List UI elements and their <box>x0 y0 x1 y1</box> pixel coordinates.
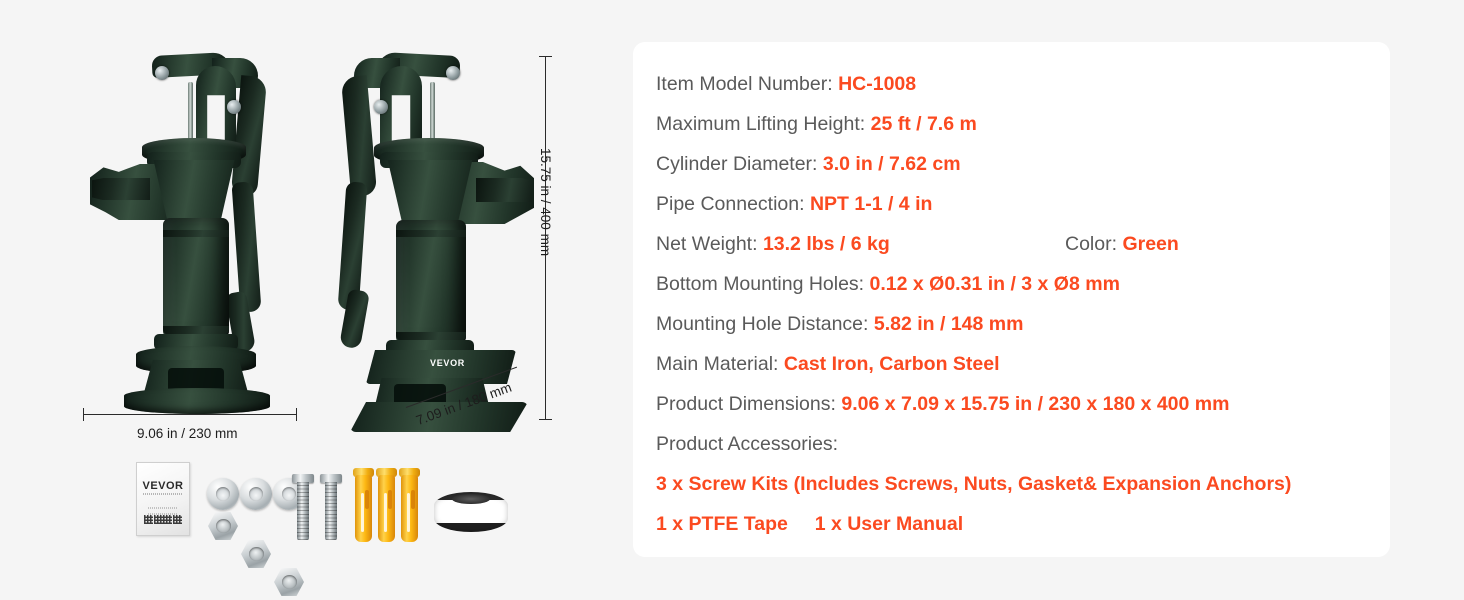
spec-label: Item Model Number: <box>656 73 833 95</box>
accessory-user-manual: 1 x User Manual <box>815 513 963 535</box>
spec-label: Product Accessories: <box>656 433 838 455</box>
handle-pivot-bolt <box>227 100 241 114</box>
specification-list: Item Model Number: HC-1008 Maximum Lifti… <box>656 64 1374 544</box>
spec-row: Item Model Number: HC-1008 <box>656 64 1374 104</box>
bolt-accessory <box>320 474 342 540</box>
spec-value: Cast Iron, Carbon Steel <box>784 353 1000 375</box>
hex-nut-accessory <box>208 512 238 540</box>
spec-label: Pipe Connection: <box>656 193 805 215</box>
handle-pivot-bolt <box>374 100 388 114</box>
width-dimension-label: 9.06 in / 230 mm <box>137 426 238 441</box>
pump-front-view <box>84 52 304 412</box>
user-manual-accessory: VEVOR <box>136 462 190 536</box>
spec-label: Net Weight: <box>656 233 758 255</box>
accessory-ptfe-tape: 1 x PTFE Tape <box>656 513 788 535</box>
pump-angled-view: VEVOR <box>318 50 543 418</box>
accessories-row: VEVOR <box>0 452 630 548</box>
spec-secondary-pair: Color: Green <box>1065 224 1179 264</box>
spec-label: Cylinder Diameter: <box>656 153 817 175</box>
handle-pivot-bolt <box>155 66 169 80</box>
manual-code-row <box>144 515 182 524</box>
hex-nut-accessory <box>241 540 271 568</box>
spec-row: Maximum Lifting Height: 25 ft / 7.6 m <box>656 104 1374 144</box>
spec-value: 9.06 x 7.09 x 15.75 in / 230 x 180 x 400… <box>841 393 1229 415</box>
ptfe-tape-accessory <box>434 492 508 532</box>
expansion-anchor-accessory <box>401 468 418 542</box>
product-illustration-panel: VEVOR 9.06 in / 230 mm 7.09 in / 180 mm … <box>0 0 630 600</box>
hex-nut-accessory <box>274 568 304 596</box>
washer-accessory <box>240 478 272 510</box>
spec-value: NPT 1-1 / 4 in <box>810 193 932 215</box>
bolt-accessory <box>292 474 314 540</box>
product-spec-page: VEVOR 9.06 in / 230 mm 7.09 in / 180 mm … <box>0 0 1464 600</box>
spec-row-accessories-heading: Product Accessories: <box>656 424 1374 464</box>
spec-label: Color: <box>1065 233 1117 255</box>
specification-card: Item Model Number: HC-1008 Maximum Lifti… <box>633 42 1390 557</box>
spec-value: 5.82 in / 148 mm <box>874 313 1024 335</box>
accessories-line-1: 3 x Screw Kits (Includes Screws, Nuts, G… <box>656 464 1374 504</box>
manual-subtitle-line <box>143 493 183 495</box>
spec-value: 0.12 x Ø0.31 in / 3 x Ø8 mm <box>870 273 1120 295</box>
expansion-anchor-accessory <box>378 468 395 542</box>
spec-value: Green <box>1122 233 1178 255</box>
spec-value: HC-1008 <box>838 73 916 95</box>
spec-value: 13.2 lbs / 6 kg <box>763 233 890 255</box>
spec-row: Product Dimensions: 9.06 x 7.09 x 15.75 … <box>656 384 1374 424</box>
spec-label: Maximum Lifting Height: <box>656 113 865 135</box>
spec-row: Cylinder Diameter: 3.0 in / 7.62 cm <box>656 144 1374 184</box>
vevor-logo-badge: VEVOR <box>430 358 465 368</box>
height-dimension-label: 15.75 in / 400 mm <box>538 148 553 256</box>
spec-row: Bottom Mounting Holes: 0.12 x Ø0.31 in /… <box>656 264 1374 304</box>
spec-label: Mounting Hole Distance: <box>656 313 868 335</box>
spec-value: 3.0 in / 7.62 cm <box>823 153 961 175</box>
spec-value: 25 ft / 7.6 m <box>871 113 977 135</box>
manual-brand-label: VEVOR <box>137 480 189 492</box>
width-dimension-line <box>83 414 297 415</box>
spec-label: Bottom Mounting Holes: <box>656 273 864 295</box>
handle-pivot-bolt <box>446 66 460 80</box>
spec-row: Net Weight: 13.2 lbs / 6 kg Color: Green <box>656 224 1374 264</box>
spec-row: Pipe Connection: NPT 1-1 / 4 in <box>656 184 1374 224</box>
spec-row: Mounting Hole Distance: 5.82 in / 148 mm <box>656 304 1374 344</box>
expansion-anchor-accessory <box>355 468 372 542</box>
spec-label: Product Dimensions: <box>656 393 836 415</box>
washer-accessory <box>207 478 239 510</box>
accessories-line-2: 1 x PTFE Tape 1 x User Manual <box>656 504 1374 544</box>
spec-row: Main Material: Cast Iron, Carbon Steel <box>656 344 1374 384</box>
manual-text-line <box>148 507 178 509</box>
spec-label: Main Material: <box>656 353 778 375</box>
